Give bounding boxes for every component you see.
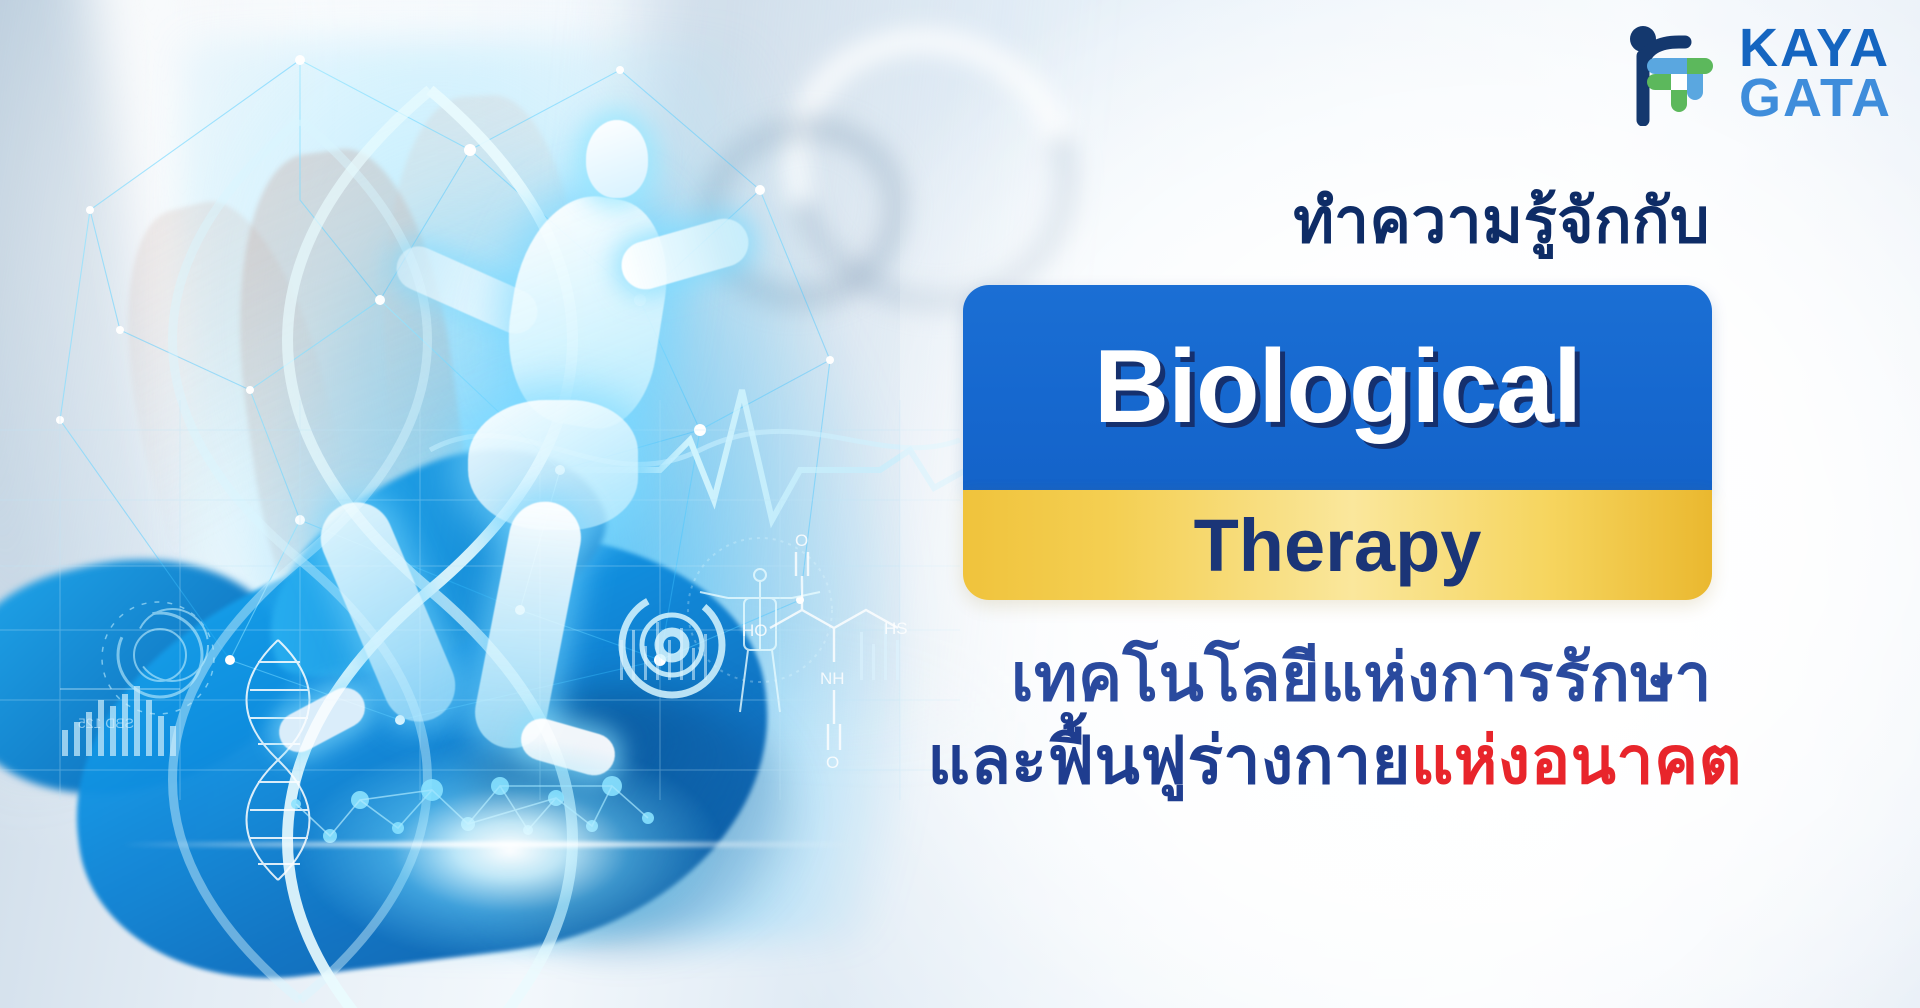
subheadline-line-2: และฟื้นฟูร่างกายแห่งอนาคต xyxy=(0,708,1742,813)
badge-biological: Biological xyxy=(963,285,1712,490)
subheadline-line-2-main: และฟื้นฟูร่างกาย xyxy=(927,723,1410,797)
headline: ทำความรู้จักกับ xyxy=(0,172,1710,270)
brand-name-line2: GATA xyxy=(1739,75,1892,123)
badge-therapy: Therapy xyxy=(963,490,1712,600)
subheadline-line-2-accent: แห่งอนาคต xyxy=(1411,723,1742,797)
brand-name-line1: KAYA xyxy=(1739,25,1892,73)
light-streak xyxy=(120,842,860,847)
svg-text:O: O xyxy=(795,531,808,550)
brand-wordmark: KAYA GATA xyxy=(1739,25,1892,122)
brand-logo[interactable]: KAYA GATA xyxy=(1627,22,1892,126)
badge-therapy-label: Therapy xyxy=(1194,503,1482,588)
person-plus-cross-icon xyxy=(1627,22,1725,126)
badge-biological-label: Biological xyxy=(1094,328,1581,447)
promo-banner: HO HO O NH HS O SBD 125 xyxy=(0,0,1920,1008)
